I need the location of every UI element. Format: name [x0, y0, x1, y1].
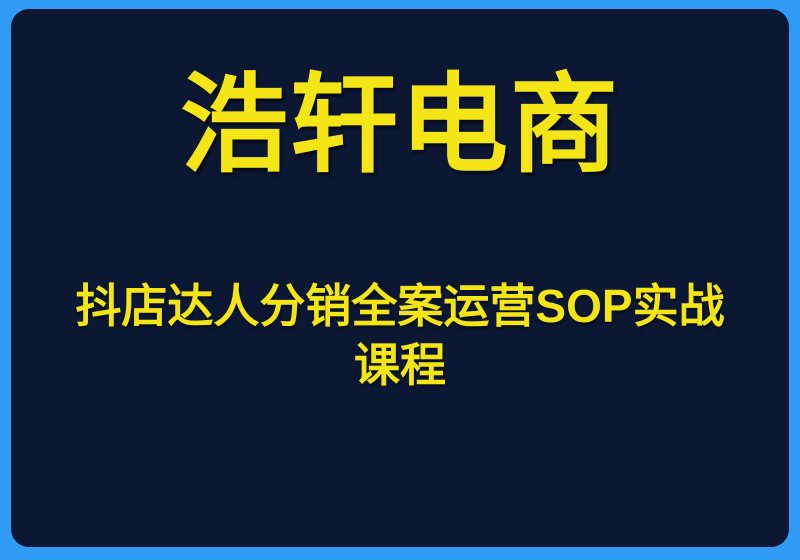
- course-subtitle-container: 抖店达人分销全案运营SOP实战课程: [53, 277, 747, 395]
- brand-title-container: 浩轩电商: [11, 71, 789, 179]
- cover-inner-panel: 浩轩电商 抖店达人分销全案运营SOP实战课程: [11, 9, 789, 547]
- brand-title: 浩轩电商: [180, 71, 620, 179]
- course-cover-image: 浩轩电商 抖店达人分销全案运营SOP实战课程: [0, 0, 800, 560]
- course-subtitle: 抖店达人分销全案运营SOP实战课程: [53, 277, 747, 395]
